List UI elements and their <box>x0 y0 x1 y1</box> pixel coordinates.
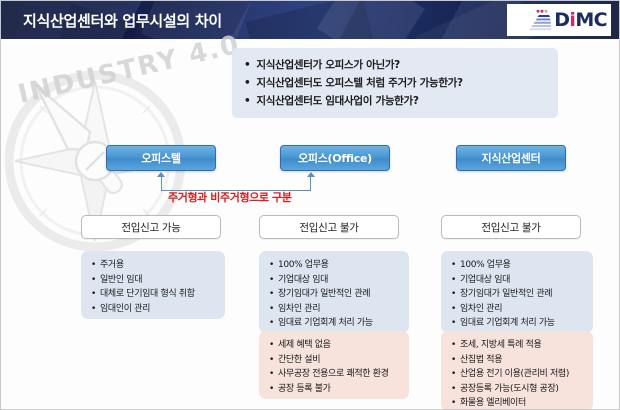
list-item: 100% 업무용 <box>269 258 409 273</box>
list-item: 장기임대가 일반적인 관례 <box>269 287 409 302</box>
list-item: 주거용 <box>91 258 225 273</box>
logo-letters-mc: MC <box>575 9 607 31</box>
list-item: 임대료 기업회계 처리 가능 <box>451 316 593 331</box>
list-item: 임대인이 관리 <box>91 302 225 317</box>
benefit-card-column-2: 세제 혜택 없음 간단한 설비 사무공장 전용으로 쾌적한 환경 공장 등록 불… <box>259 331 409 399</box>
list-item: 임차인 관리 <box>451 302 593 317</box>
question-item: 지식산업센터도 임대사업이 가능한가? <box>244 92 558 110</box>
list-item: 공장 등록 불가 <box>269 382 409 397</box>
category-box-knowledge-industry-center[interactable]: 지식산업센터 <box>456 145 566 171</box>
category-box-officetel[interactable]: 오피스텔 <box>106 145 216 171</box>
page-title: 지식산업센터와 업무시설의 차이 <box>23 10 222 31</box>
bracket-arrow-left <box>157 172 165 177</box>
questions-panel: 지식산업센터가 오피스가 아닌가? 지식산업센터도 오피스텔 처럼 주거가 가능… <box>232 48 558 118</box>
list-item: 대체로 단기임대 형식 취함 <box>91 287 225 302</box>
brand-logo: DiMC <box>507 4 611 36</box>
header-divider <box>1 39 620 42</box>
list-item: 100% 업무용 <box>451 258 593 273</box>
slide-canvas: 지식산업센터와 업무시설의 차이 DiMC <box>0 0 620 410</box>
list-item: 간단한 설비 <box>269 353 409 368</box>
question-item: 지식산업센터도 오피스텔 처럼 주거가 가능한가? <box>244 74 558 92</box>
list-item: 산집법 적용 <box>451 353 593 368</box>
header-facet <box>317 1 425 39</box>
feature-card-column-1: 주거용 일반인 임대 대체로 단기임대 형식 취함 임대인이 관리 <box>81 251 225 319</box>
dimc-building-stripes-icon <box>528 9 552 31</box>
feature-card-column-3: 100% 업무용 기업대상 임대 장기임대가 일반적인 관례 임차인 관리 임대… <box>441 251 593 333</box>
list-item: 사무공장 전용으로 쾌적한 환경 <box>269 367 409 382</box>
list-item: 공장등록 가능(도시형 공장) <box>451 382 593 397</box>
status-box-column-3[interactable]: 전입신고 불가 <box>441 215 581 239</box>
logo-letter-d: D <box>554 9 569 31</box>
benefit-card-column-3: 조세, 지방세 특례 적용 산집법 적용 산업용 전기 이용(관리비 저렴) 공… <box>441 331 593 410</box>
question-item: 지식산업센터가 오피스가 아닌가? <box>244 56 558 74</box>
list-item: 기업대상 임대 <box>451 273 593 288</box>
watermark-label: INDUSTRY 4.0 <box>15 27 262 139</box>
list-item: 임대료 기업회계 처리 가능 <box>269 316 409 331</box>
list-item: 장기임대가 일반적인 관례 <box>451 287 593 302</box>
list-item: 기업대상 임대 <box>269 273 409 288</box>
list-item: 산업용 전기 이용(관리비 저렴) <box>451 367 593 382</box>
bracket-note: 주거형과 비주거형으로 구분 <box>168 189 292 205</box>
list-item: 임차인 관리 <box>269 302 409 317</box>
status-box-column-2[interactable]: 전입신고 불가 <box>259 215 399 239</box>
feature-card-column-2: 100% 업무용 기업대상 임대 장기임대가 일반적인 관례 임차인 관리 임대… <box>259 251 409 333</box>
category-box-office[interactable]: 오피스(Office) <box>280 145 390 171</box>
list-item: 일반인 임대 <box>91 273 225 288</box>
list-item: 조세, 지방세 특례 적용 <box>451 338 593 353</box>
list-item: 화물용 엘리베이터 <box>451 396 593 410</box>
bracket-arrow-right <box>307 172 315 177</box>
logo-wordmark: DiMC <box>554 11 607 30</box>
list-item: 세제 혜택 없음 <box>269 338 409 353</box>
status-box-column-1[interactable]: 전입신고 가능 <box>81 215 221 239</box>
